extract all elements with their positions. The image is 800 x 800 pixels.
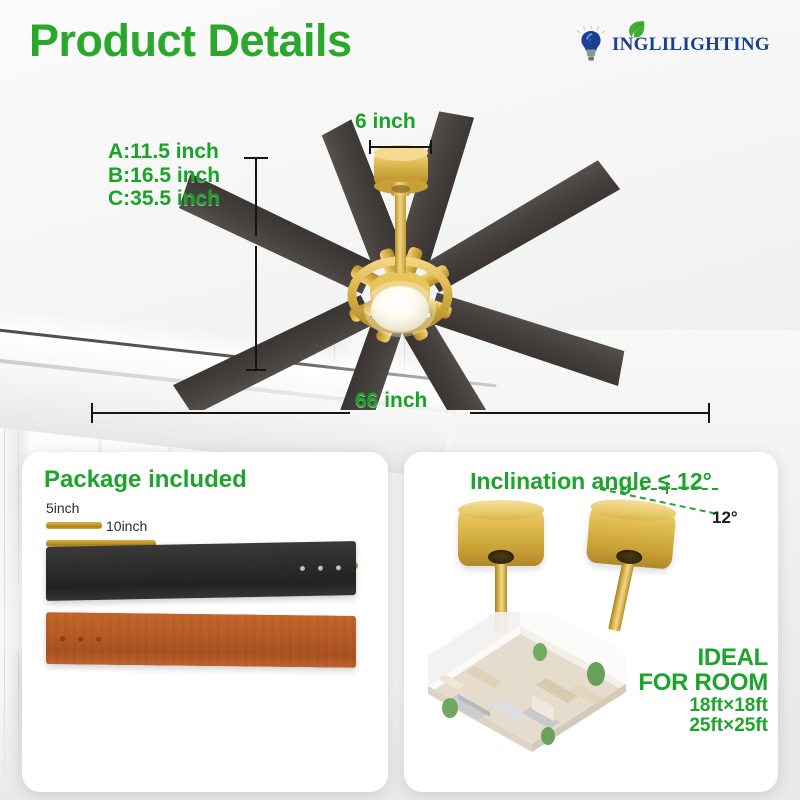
downrod-5inch bbox=[46, 522, 102, 529]
product-details-infographic: Product Details INGLILIGHTING bbox=[0, 0, 800, 800]
rod-label-10inch: 10inch bbox=[106, 518, 147, 534]
brand-logo: INGLILIGHTING bbox=[576, 26, 770, 64]
ideal-size-2: 25ft×25ft bbox=[638, 716, 768, 736]
wood-blade bbox=[46, 612, 356, 668]
dim-tick-bottom bbox=[246, 369, 266, 371]
dim-line-vertical-lower bbox=[255, 246, 257, 370]
rod-label-5inch: 5inch bbox=[46, 500, 79, 516]
fan-diameter-label: 66 inch bbox=[355, 389, 427, 413]
mount-tilted bbox=[586, 504, 677, 569]
ideal-line-1: IDEAL bbox=[638, 646, 768, 671]
fan-svg bbox=[0, 90, 800, 410]
angle-guide-horizontal bbox=[600, 488, 718, 490]
downrod bbox=[395, 195, 406, 273]
package-included-card: Package included 5inch 10inch 24inch bbox=[22, 452, 388, 792]
dim-line-66inch-left bbox=[92, 412, 350, 414]
mount-straight bbox=[458, 508, 544, 566]
dim-line-66inch-right bbox=[470, 412, 710, 414]
room-floorplan-3d bbox=[414, 612, 644, 780]
dim-line-vertical-upper bbox=[255, 158, 257, 236]
ideal-room-size: IDEAL FOR ROOM 18ft×18ft 25ft×25ft bbox=[638, 646, 768, 735]
page-title: Product Details bbox=[29, 18, 352, 63]
leaf-icon bbox=[628, 20, 645, 39]
ideal-line-2: FOR ROOM bbox=[638, 671, 768, 696]
led-light bbox=[364, 281, 436, 337]
dim-c-label: C:35.5 inch bbox=[108, 187, 220, 211]
dim-tick-6inch-left bbox=[369, 140, 371, 154]
dim-tick-top bbox=[244, 157, 268, 159]
ceiling-fan-illustration bbox=[0, 90, 800, 410]
black-blade bbox=[46, 541, 356, 601]
canopy-width-label: 6 inch bbox=[355, 110, 416, 134]
angle-value-label: 12° bbox=[712, 508, 738, 528]
dim-tick-66inch-right bbox=[708, 403, 710, 423]
ideal-size-1: 18ft×18ft bbox=[638, 696, 768, 716]
dim-line-6inch bbox=[370, 146, 432, 148]
dim-tick-6inch-right bbox=[430, 140, 432, 154]
angle-guide-tick bbox=[666, 482, 670, 494]
blade-span-labels: A:11.5 inch B:16.5 inch C:35.5 inch bbox=[108, 140, 220, 211]
lightbulb-icon bbox=[576, 26, 610, 64]
dim-b-label: B:16.5 inch bbox=[108, 164, 220, 188]
package-card-title: Package included bbox=[44, 466, 247, 494]
inclination-card-title: Inclination angle ≤ 12° bbox=[404, 468, 778, 495]
dim-tick-66inch-left bbox=[91, 403, 93, 423]
dim-a-label: A:11.5 inch bbox=[108, 140, 220, 164]
inclination-angle-card: Inclination angle ≤ 12° 12° bbox=[404, 452, 778, 792]
ceiling-canopy bbox=[374, 145, 428, 196]
